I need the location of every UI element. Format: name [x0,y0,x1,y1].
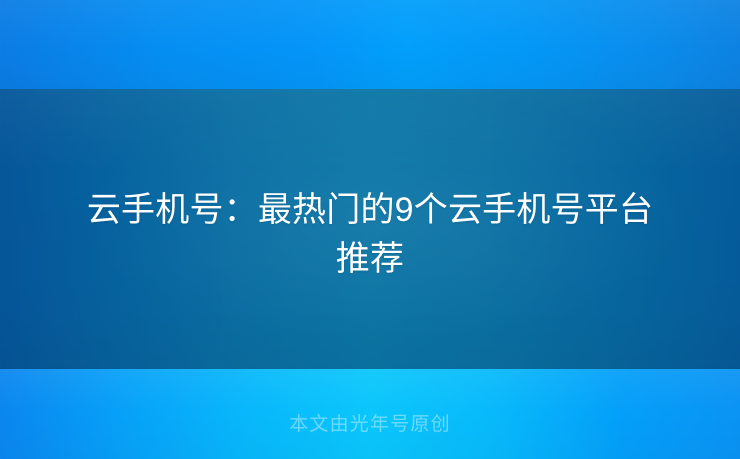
background-band-top [0,0,740,89]
banner-headline: 云手机号：最热门的9个云手机号平台推荐 [0,186,740,284]
banner-headline-line-1: 云手机号：最热门的9个云手机号平台 [87,191,653,229]
cover-banner: 云手机号：最热门的9个云手机号平台推荐 本文由光年号原创 [0,0,740,459]
banner-headline-line-2: 推荐 [336,240,404,278]
origin-watermark: 本文由光年号原创 [0,412,740,438]
